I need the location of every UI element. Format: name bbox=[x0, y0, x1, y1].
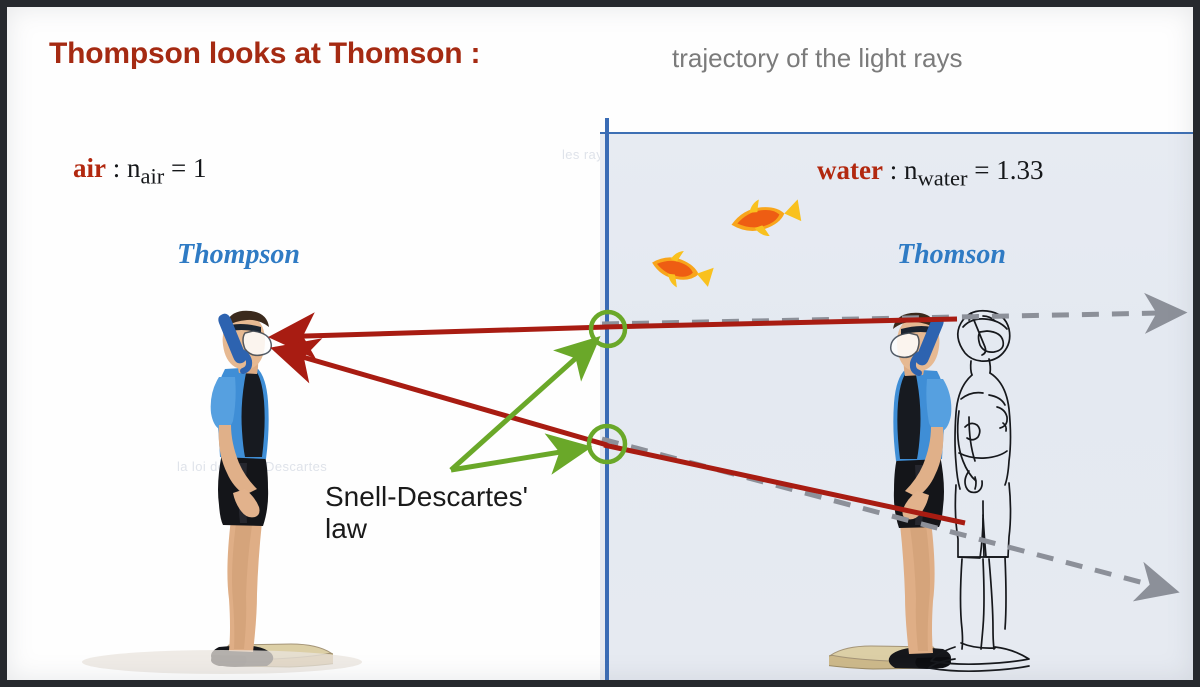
observer-label-thomson: Thomson bbox=[897, 239, 1006, 271]
fish-lower bbox=[648, 244, 716, 295]
air-index-value: 1 bbox=[193, 153, 207, 183]
ray-diagram-overlay bbox=[7, 7, 1193, 680]
snell-law-line-2: law bbox=[325, 513, 367, 544]
water-subscript: water bbox=[917, 165, 967, 190]
snell-law-line-1: Snell-Descartes' bbox=[325, 481, 528, 512]
figure-canvas: les rayons lumineux la loi de Snell-Desc… bbox=[7, 7, 1193, 680]
water-name: water bbox=[817, 155, 883, 185]
observer-label-thompson: Thompson bbox=[177, 239, 300, 271]
air-symbol: n bbox=[127, 153, 141, 183]
page-title: Thompson looks at Thomson : bbox=[49, 37, 480, 71]
water-symbol: n bbox=[904, 155, 918, 185]
air-name: air bbox=[73, 153, 106, 183]
air-separator: : bbox=[106, 153, 127, 183]
air-equals: = bbox=[164, 153, 193, 183]
water-separator: : bbox=[883, 155, 904, 185]
water-equals: = bbox=[967, 155, 996, 185]
air-subscript: air bbox=[141, 163, 165, 188]
air-index-label: air : nair = 1 bbox=[73, 153, 206, 189]
fish-upper bbox=[728, 192, 804, 244]
water-index-value: 1.33 bbox=[996, 155, 1043, 185]
snell-descartes-law-label: Snell-Descartes'law bbox=[325, 481, 528, 545]
ground-shadow bbox=[82, 650, 362, 674]
optics-figure: les rayons lumineux la loi de Snell-Desc… bbox=[0, 0, 1200, 687]
water-index-label: water : nwater = 1.33 bbox=[817, 155, 1043, 191]
figure-subtitle: trajectory of the light rays bbox=[672, 43, 962, 74]
